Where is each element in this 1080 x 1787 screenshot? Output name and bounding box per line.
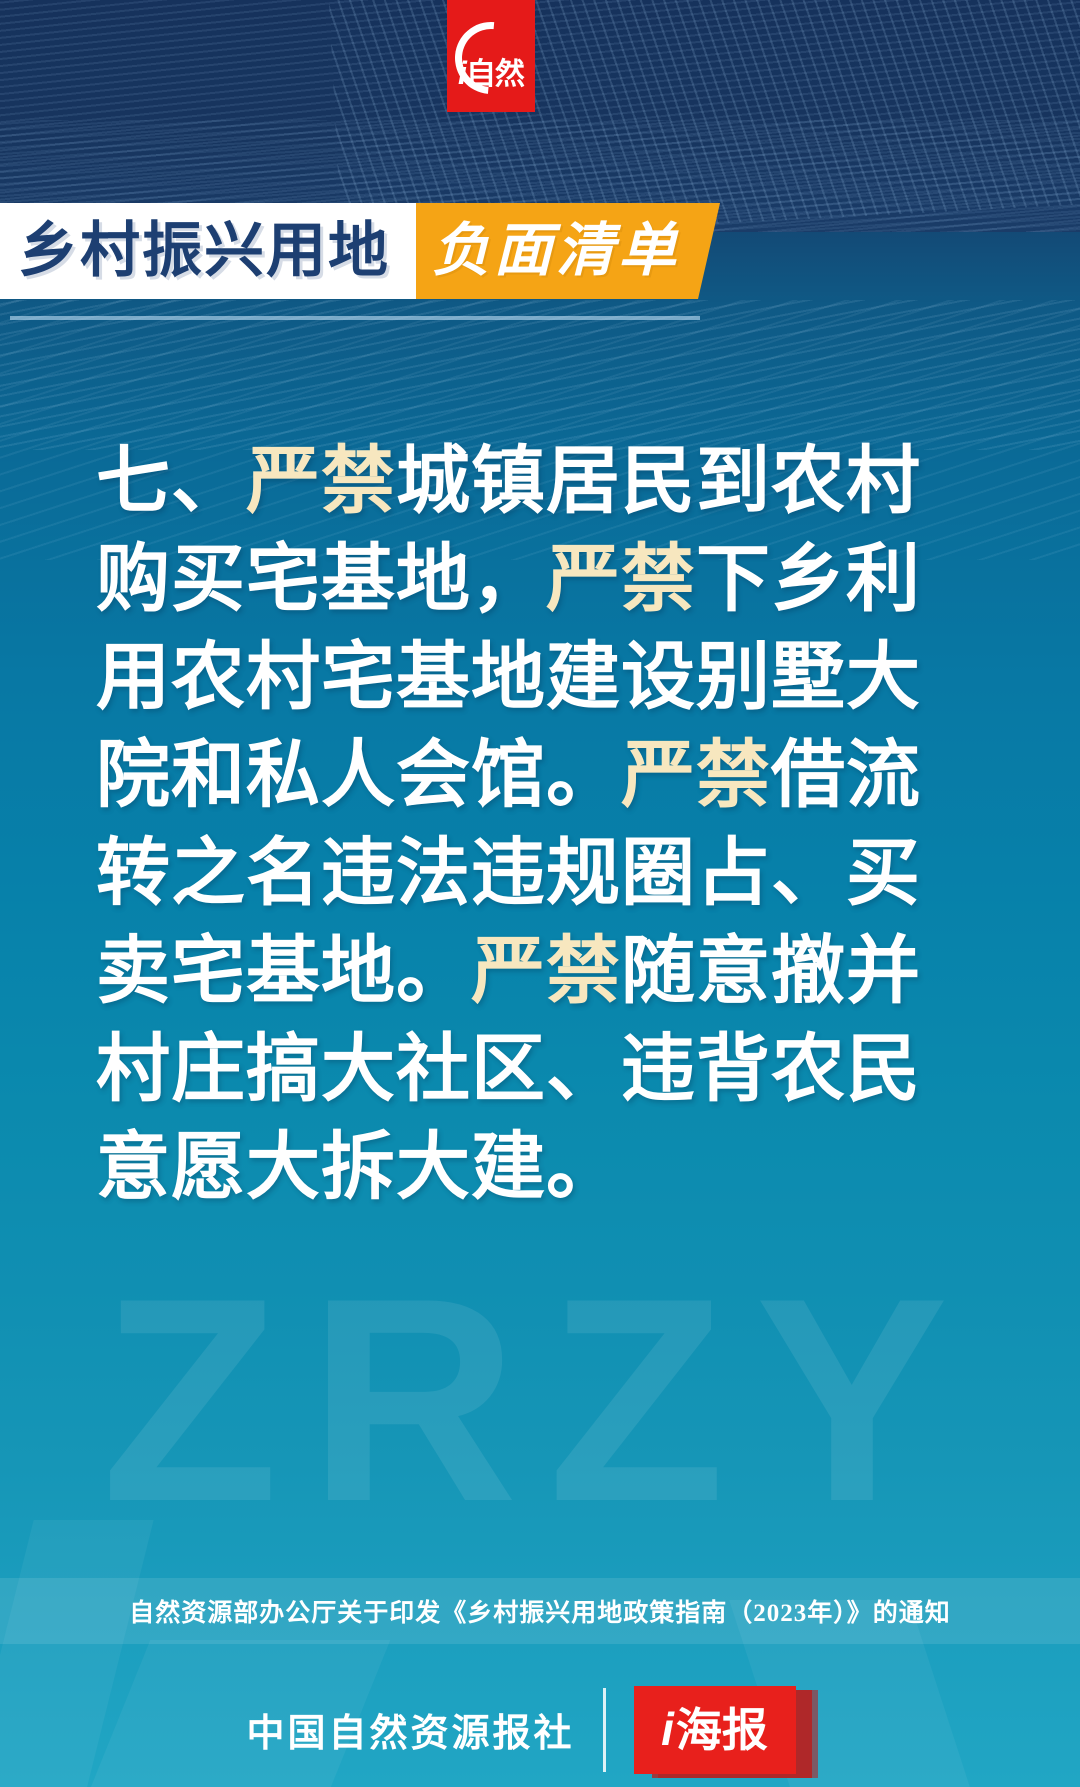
title-banner: 乡村振兴用地 负面清单 <box>0 203 716 299</box>
title-main-text: 乡村振兴用地 <box>18 221 390 281</box>
zrzy-watermark: ZRZY <box>0 1255 1080 1545</box>
body-text-run: 意愿大拆大建。 <box>96 1125 621 1208</box>
body-text-run: 院和私人会馆。 <box>96 733 621 816</box>
source-caption-bar: 自然资源部办公厅关于印发《乡村振兴用地政策指南（2023年）》的通知 <box>0 1578 1080 1644</box>
badge-word: 海报 <box>676 1707 768 1753</box>
logo-i-glyph: i <box>458 55 466 91</box>
body-line: 转之名违法违规圈占、买 <box>96 824 986 922</box>
body-line: 村庄搞大社区、违背农民 <box>96 1020 986 1118</box>
body-text-run: 用农村宅基地建设别墅大 <box>96 635 921 718</box>
body-highlight-run: 严禁 <box>546 537 696 620</box>
logo-zi-glyph: 自然 <box>466 58 524 91</box>
title-underline <box>10 316 700 320</box>
body-highlight-run: 严禁 <box>246 439 396 522</box>
izran-logo: i自然 <box>447 0 535 112</box>
title-accent-text: 负面清单 <box>432 222 680 280</box>
mid-hatch-texture <box>0 300 1080 450</box>
body-line: 意愿大拆大建。 <box>96 1118 986 1216</box>
body-text-run: 转之名违法违规圈占、买 <box>96 831 921 914</box>
brand-divider <box>603 1688 606 1772</box>
body-line: 购买宅基地，严禁下乡利 <box>96 530 986 628</box>
body-text-run: 卖宅基地。 <box>96 929 471 1012</box>
body-text-run: 借流 <box>771 733 921 816</box>
body-line: 院和私人会馆。严禁借流 <box>96 726 986 824</box>
body-text-run: 城镇居民到农村 <box>396 439 921 522</box>
logo-text: i自然 <box>458 57 524 90</box>
title-main-block: 乡村振兴用地 <box>0 203 416 299</box>
source-caption-text: 自然资源部办公厅关于印发《乡村振兴用地政策指南（2023年）》的通知 <box>129 1593 951 1629</box>
ihaibao-badge-group: i 海报 <box>634 1686 834 1774</box>
badge-i-glyph: i <box>661 1706 674 1752</box>
body-line: 卖宅基地。严禁随意撤并 <box>96 922 986 1020</box>
publisher-name: 中国自然资源报社 <box>246 1702 574 1757</box>
body-line: 七、严禁城镇居民到农村 <box>96 432 986 530</box>
body-text: 七、严禁城镇居民到农村购买宅基地，严禁下乡利用农村宅基地建设别墅大院和私人会馆。… <box>96 432 986 1216</box>
body-highlight-run: 严禁 <box>621 733 771 816</box>
body-text-run: 购买宅基地， <box>96 537 546 620</box>
title-accent-block: 负面清单 <box>416 203 720 299</box>
ihaibao-badge: i 海报 <box>634 1686 796 1774</box>
body-line: 用农村宅基地建设别墅大 <box>96 628 986 726</box>
top-banner <box>0 0 1080 232</box>
poster-root: i自然 乡村振兴用地 负面清单 ZRZY 七、严禁城镇居民到农村购买宅基地，严禁… <box>0 0 1080 1787</box>
body-text-run: 村庄搞大社区、违背农民 <box>96 1027 921 1110</box>
body-text-run: 七、 <box>96 439 246 522</box>
body-text-run: 随意撤并 <box>621 929 921 1012</box>
body-highlight-run: 严禁 <box>471 929 621 1012</box>
footer-brand-row: 中国自然资源报社 i 海报 <box>0 1672 1080 1787</box>
body-text-run: 下乡利 <box>696 537 921 620</box>
